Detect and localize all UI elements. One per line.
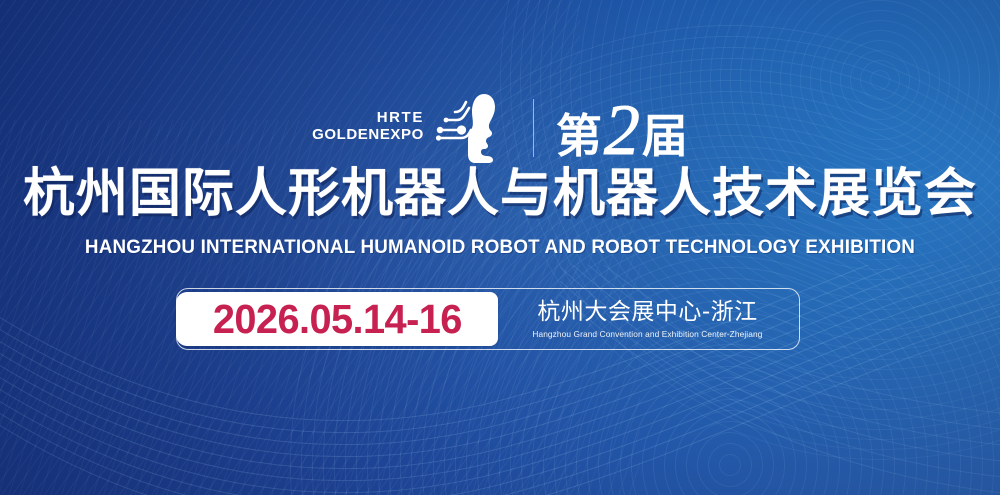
logo-divider [533,99,534,157]
date-badge: 2026.05.14-16 [176,292,498,346]
venue-block: 杭州大会展中心-浙江 Hangzhou Grand Convention and… [498,299,799,339]
page-title-english: HANGZHOU INTERNATIONAL HUMANOID ROBOT AN… [18,238,983,258]
venue-name-chinese: 杭州大会展中心-浙江 [537,299,757,326]
brand-name-goldenexpo: GOLDENEXPO [312,127,424,144]
logo-row: HRTE GOLDENEXPO [0,88,1000,168]
event-date: 2026.05.14-16 [213,299,462,340]
edition-label: 第 2 届 [556,92,688,164]
brand-wordmark: HRTE GOLDENEXPO [312,110,424,146]
edition-suffix: 届 [642,113,688,159]
exhibition-banner: HRTE GOLDENEXPO [0,0,1000,495]
page-title-chinese: 杭州国际人形机器人与机器人技术展览会 [0,168,1000,220]
banner-content: HRTE GOLDENEXPO [0,0,1000,495]
edition-prefix: 第 [556,113,602,159]
date-venue-bar: 2026.05.14-16 杭州大会展中心-浙江 Hangzhou Grand … [176,288,800,350]
robot-head-circuit-icon [431,92,517,164]
brand-name-hrte: HRTE [377,110,424,127]
edition-number: 2 [604,94,640,166]
brand-logo: HRTE GOLDENEXPO [312,92,517,164]
venue-name-english: Hangzhou Grand Convention and Exhibition… [532,329,762,339]
